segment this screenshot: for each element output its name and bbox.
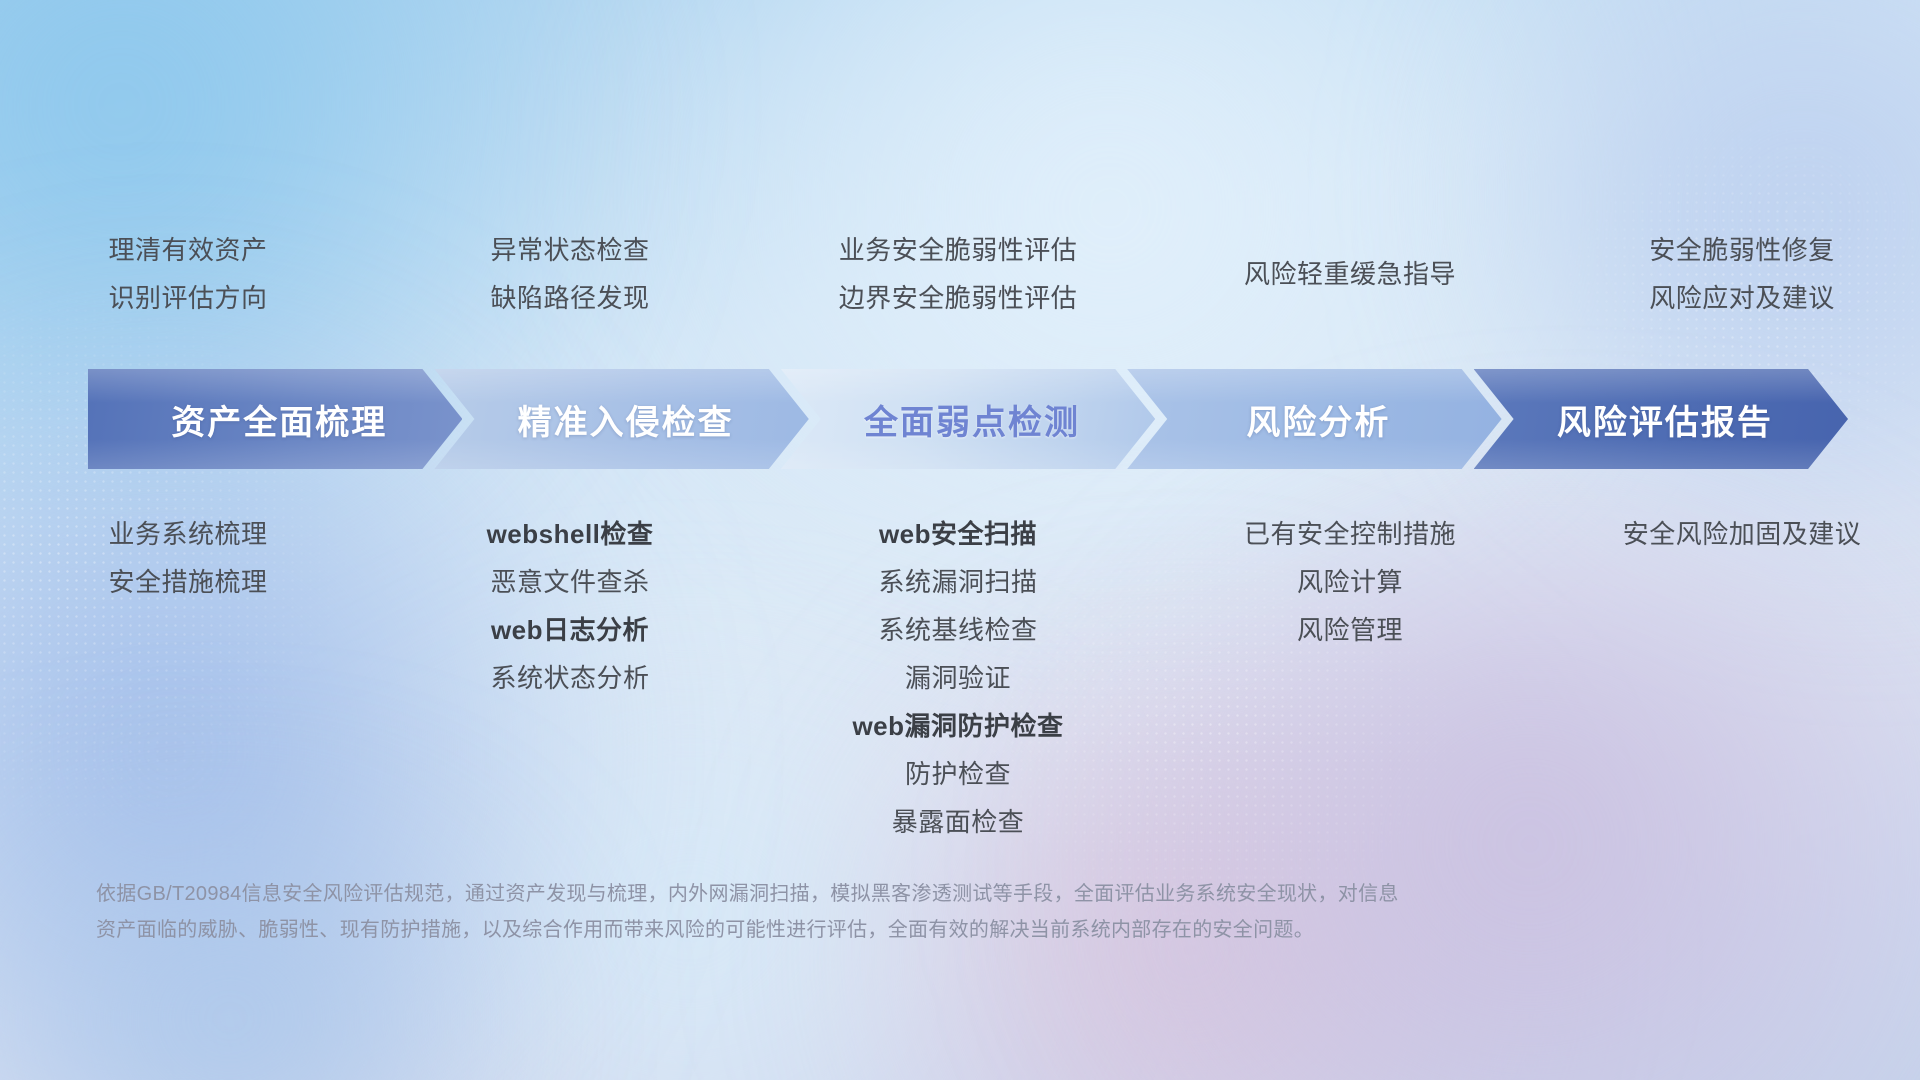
bottom-label: 风险计算 <box>1297 558 1403 606</box>
top-label: 业务安全脆弱性评估 <box>839 226 1078 274</box>
bottom-labels-stage-3: web安全扫描 系统漏洞扫描 系统基线检查 漏洞验证 web漏洞防护检查 防护检… <box>766 510 1150 846</box>
top-labels-stage-1: 理清有效资产 识别评估方向 <box>0 226 380 322</box>
bottom-label: 系统漏洞扫描 <box>878 558 1037 606</box>
bottom-label: 安全措施梳理 <box>108 558 267 606</box>
stage-chevron-band: 资产全面梳理 精准入侵检查 全面弱点检测 风险分析 风险评估报告 <box>88 369 1848 469</box>
top-labels-stage-2: 异常状态检查 缺陷路径发现 <box>378 226 762 322</box>
bottom-label: 暴露面检查 <box>892 798 1025 846</box>
top-label: 边界安全脆弱性评估 <box>839 274 1078 322</box>
stage-chevron-risk-analysis[interactable]: 风险分析 <box>1127 369 1501 469</box>
stage-label: 风险分析 <box>1238 395 1390 444</box>
stage-chevron-intrusion-check[interactable]: 精准入侵检查 <box>434 369 808 469</box>
top-labels-stage-3: 业务安全脆弱性评估 边界安全脆弱性评估 <box>766 226 1150 322</box>
top-label: 风险轻重缓急指导 <box>1244 226 1456 322</box>
top-label: 识别评估方向 <box>108 274 267 322</box>
bottom-label: 已有安全控制措施 <box>1244 510 1456 558</box>
top-labels-stage-4: 风险轻重缓急指导 <box>1158 226 1542 322</box>
top-labels-row: 理清有效资产 识别评估方向 异常状态检查 缺陷路径发现 业务安全脆弱性评估 边界… <box>0 226 1920 322</box>
bottom-label: 系统状态分析 <box>490 654 649 702</box>
bottom-labels-stage-4: 已有安全控制措施 风险计算 风险管理 <box>1158 510 1542 846</box>
stage-chevron-asset-inventory[interactable]: 资产全面梳理 <box>88 369 462 469</box>
bottom-label: 防护检查 <box>905 750 1011 798</box>
bottom-label: web日志分析 <box>491 606 649 654</box>
bottom-labels-stage-5: 安全风险加固及建议 <box>1550 510 1920 846</box>
bottom-label: 漏洞验证 <box>905 654 1011 702</box>
top-label: 风险应对及建议 <box>1649 274 1835 322</box>
process-diagram: 理清有效资产 识别评估方向 异常状态检查 缺陷路径发现 业务安全脆弱性评估 边界… <box>0 0 1920 1080</box>
top-labels-stage-5: 安全脆弱性修复 风险应对及建议 <box>1550 226 1920 322</box>
stage-chevron-weakness-detection[interactable]: 全面弱点检测 <box>781 369 1155 469</box>
top-label: 安全脆弱性修复 <box>1649 226 1835 274</box>
bottom-labels-stage-1: 业务系统梳理 安全措施梳理 <box>0 510 380 846</box>
bottom-label: 安全风险加固及建议 <box>1623 510 1862 558</box>
bottom-label: web漏洞防护检查 <box>852 702 1063 750</box>
top-label: 异常状态检查 <box>490 226 649 274</box>
bottom-label: web安全扫描 <box>879 510 1037 558</box>
footer-line-1: 依据GB/T20984信息安全风险评估规范，通过资产发现与梳理，内外网漏洞扫描，… <box>96 876 1736 912</box>
bottom-label: 系统基线检查 <box>878 606 1037 654</box>
footer-line-2: 资产面临的威胁、脆弱性、现有防护措施，以及综合作用而带来风险的可能性进行评估，全… <box>96 912 1736 948</box>
bottom-label: webshell检查 <box>487 510 654 558</box>
bottom-label: 风险管理 <box>1297 606 1403 654</box>
bottom-labels-row: 业务系统梳理 安全措施梳理 webshell检查 恶意文件查杀 web日志分析 … <box>0 510 1920 846</box>
stage-label: 资产全面梳理 <box>163 395 387 444</box>
top-label: 理清有效资产 <box>108 226 267 274</box>
footer-description: 依据GB/T20984信息安全风险评估规范，通过资产发现与梳理，内外网漏洞扫描，… <box>96 876 1736 948</box>
bottom-label: 恶意文件查杀 <box>490 558 649 606</box>
bottom-label: 业务系统梳理 <box>108 510 267 558</box>
stage-label: 精准入侵检查 <box>510 395 734 444</box>
stage-label: 全面弱点检测 <box>856 395 1080 444</box>
bottom-labels-stage-2: webshell检查 恶意文件查杀 web日志分析 系统状态分析 <box>378 510 762 846</box>
stage-label: 风险评估报告 <box>1549 395 1773 444</box>
stage-chevron-assessment-report[interactable]: 风险评估报告 <box>1474 369 1848 469</box>
top-label: 缺陷路径发现 <box>490 274 649 322</box>
